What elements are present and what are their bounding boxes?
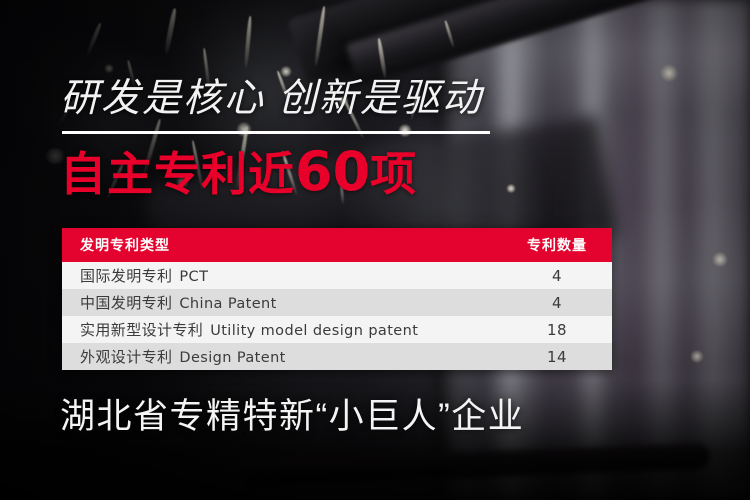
patent-type-en: Design Patent [179,350,285,366]
headline-red-prefix: 自主专利近 [60,148,295,200]
cell-patent-count: 18 [502,316,612,343]
cell-patent-type: 外观设计专利Design Patent [62,343,502,370]
patent-type-en: China Patent [179,296,276,312]
promo-poster: 研发是核心 创新是驱动 自主专利近60项 发明专利类型 专利数量 国际发明专利P… [0,0,750,500]
headline-red: 自主专利近60项 [60,144,417,201]
patent-table-head: 发明专利类型 专利数量 [62,228,612,262]
patent-type-cn: 中国发明专利 [80,295,172,312]
column-header-type: 发明专利类型 [62,228,502,262]
cell-patent-type: 中国发明专利China Patent [62,289,502,316]
poster-content: 研发是核心 创新是驱动 自主专利近60项 发明专利类型 专利数量 国际发明专利P… [0,0,750,500]
column-header-count: 专利数量 [502,228,612,262]
patent-table-body: 国际发明专利PCT 4 中国发明专利China Patent 4 实用新型设计专… [62,262,612,370]
patent-type-cn: 实用新型设计专利 [80,322,203,339]
table-row: 实用新型设计专利Utility model design patent 18 [62,316,612,343]
cell-patent-count: 4 [502,289,612,316]
table-header-row: 发明专利类型 专利数量 [62,228,612,262]
headline-divider-rule [62,131,490,134]
patent-type-en: PCT [179,269,208,285]
patent-type-cn: 外观设计专利 [80,349,172,366]
headline-top: 研发是核心 创新是驱动 [60,79,483,120]
headline-bottom: 湖北省专精特新“小巨人”企业 [60,398,524,437]
table-row: 外观设计专利Design Patent 14 [62,343,612,370]
cell-patent-type: 实用新型设计专利Utility model design patent [62,316,502,343]
patent-table: 发明专利类型 专利数量 国际发明专利PCT 4 中国发明专利China Pate… [62,228,612,370]
cell-patent-count: 14 [502,343,612,370]
cell-patent-type: 国际发明专利PCT [62,262,502,289]
patent-type-cn: 国际发明专利 [80,268,172,285]
headline-red-number: 60 [295,140,370,203]
table-row: 国际发明专利PCT 4 [62,262,612,289]
headline-red-suffix: 项 [370,148,417,200]
table-row: 中国发明专利China Patent 4 [62,289,612,316]
cell-patent-count: 4 [502,262,612,289]
patent-type-en: Utility model design patent [210,323,418,339]
